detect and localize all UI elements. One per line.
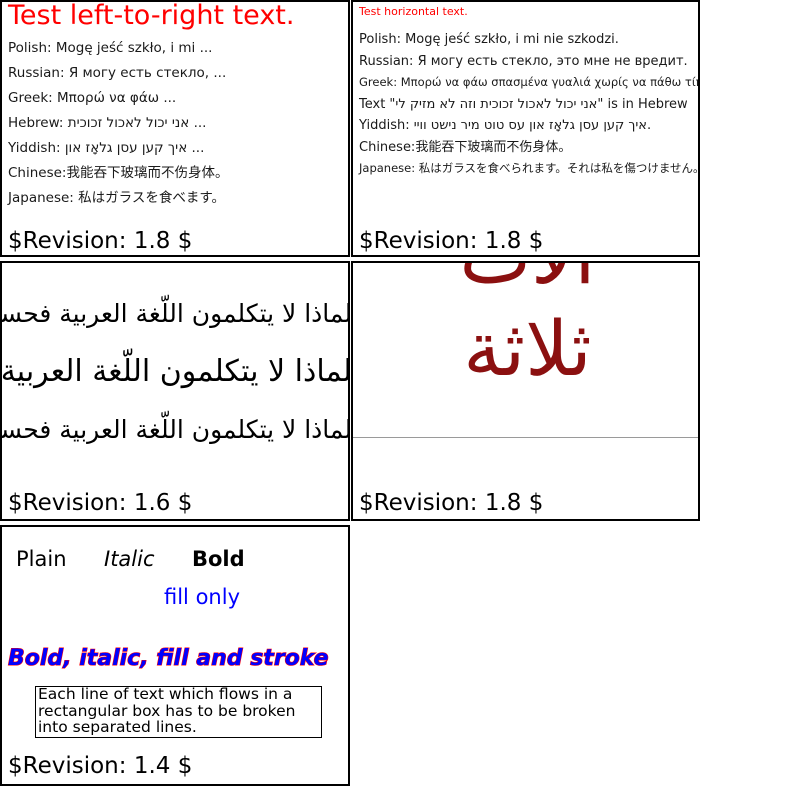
revision-label-styles: $Revision: 1.4 $ [8, 753, 192, 779]
sample-italic: Italic [104, 547, 155, 571]
flow-text-line-3: into separated lines. [38, 719, 338, 736]
language-line-japanese: Japanese: 私はガラスを食べられます。それは私を傷つけません。 [359, 158, 700, 180]
language-line-yiddish: Yiddish: איך קען עסן גלאָז און עס טוט מי… [359, 115, 700, 137]
language-line-greek: Greek: Μπορώ να φάω σπασμένα γυαλιά χωρί… [359, 72, 700, 94]
panel-title-horizontal: Test horizontal text. [359, 5, 468, 18]
language-line-chinese: Chinese:我能吞下玻璃而不伤身体。 [359, 137, 700, 159]
sample-fill-only: fill only [164, 585, 240, 609]
language-line-japanese: Japanese: 私はガラスを食べます。 [8, 186, 350, 211]
revision-label-arabic: $Revision: 1.6 $ [8, 490, 192, 516]
flow-text-line-1: Each line of text which flows in a [38, 686, 338, 703]
language-line-greek: Greek: Μπορώ να φάω ... [8, 86, 350, 111]
panel-left-to-right-text: Test left-to-right text. Polish: Mogę je… [0, 0, 350, 257]
sample-bold-italic-fill-stroke: Bold, italic, fill and stroke [8, 646, 329, 671]
language-line-hebrew: Text "אני יכול לאכול זכוכית וזה לא מזיק … [359, 94, 700, 116]
arabic-large-line-2: ثلاثة [353, 303, 700, 395]
flow-text-content: Each line of text which flows in a recta… [38, 686, 338, 736]
arabic-line-large: لماذا لا يتكلمون اللّغة العربية فحسب؟ [66, 343, 350, 401]
arabic-line-list: لماذا لا يتكلمون اللّغة العربية فحسب؟ لم… [2, 285, 350, 459]
baseline-rule [353, 437, 700, 438]
revision-label-arabic-big: $Revision: 1.8 $ [359, 490, 543, 516]
language-line-polish: Polish: Mogę jeść szkło, i mi ... [8, 36, 350, 61]
language-line-russian: Russian: Я могу есть стекло, ... [8, 61, 350, 86]
panel-arabic-large-glyphs: آلات ثلاثة $Revision: 1.8 $ [351, 261, 700, 521]
panel-arabic-text: لماذا لا يتكلمون اللّغة العربية فحسب؟ لم… [0, 261, 350, 521]
language-line-chinese: Chinese:我能吞下玻璃而不伤身体。 [8, 161, 350, 186]
revision-label-ltr: $Revision: 1.8 $ [8, 228, 192, 254]
language-line-hebrew: Hebrew: אני יכול לאכול זכוכית ... [8, 111, 350, 136]
sample-stroke-only: stroke only [30, 613, 163, 637]
test-grid-canvas: Test left-to-right text. Polish: Mogę je… [0, 0, 800, 800]
language-sample-list-ltr: Polish: Mogę jeść szkło, i mi ... Russia… [8, 36, 350, 211]
arabic-line-small: لماذا لا يتكلمون اللّغة العربية فحسب؟ [24, 285, 350, 343]
sample-bold: Bold [192, 547, 245, 571]
panel-text-styles: Plain Italic Bold fill only stroke only … [0, 525, 350, 786]
language-line-polish: Polish: Mogę jeść szkło, i mi nie szkodz… [359, 29, 700, 51]
language-sample-list-horizontal: Polish: Mogę jeść szkło, i mi nie szkodz… [359, 29, 700, 180]
arabic-large-text-block: آلات ثلاثة [353, 261, 700, 395]
sample-stroke-only-glyphs: stroke only [30, 613, 163, 637]
panel-title-ltr: Test left-to-right text. [8, 0, 294, 31]
sample-plain: Plain [16, 547, 67, 571]
panel-horizontal-text: Test horizontal text. Polish: Mogę jeść … [351, 0, 700, 257]
language-line-russian: Russian: Я могу есть стекло, это мне не … [359, 51, 700, 73]
language-line-yiddish: Yiddish: איך קען עסן גלאָז און ... [8, 136, 350, 161]
arabic-large-line-1: آلات [353, 261, 700, 303]
flow-text-line-2: rectangular box has to be broken [38, 703, 338, 720]
flow-text-box: Each line of text which flows in a recta… [35, 686, 322, 738]
arabic-line-small2: لماذا لا يتكلمون اللّغة العربية فحسب؟ [24, 401, 350, 459]
revision-label-horizontal: $Revision: 1.8 $ [359, 228, 543, 254]
font-face-row: Plain Italic Bold [16, 547, 346, 577]
